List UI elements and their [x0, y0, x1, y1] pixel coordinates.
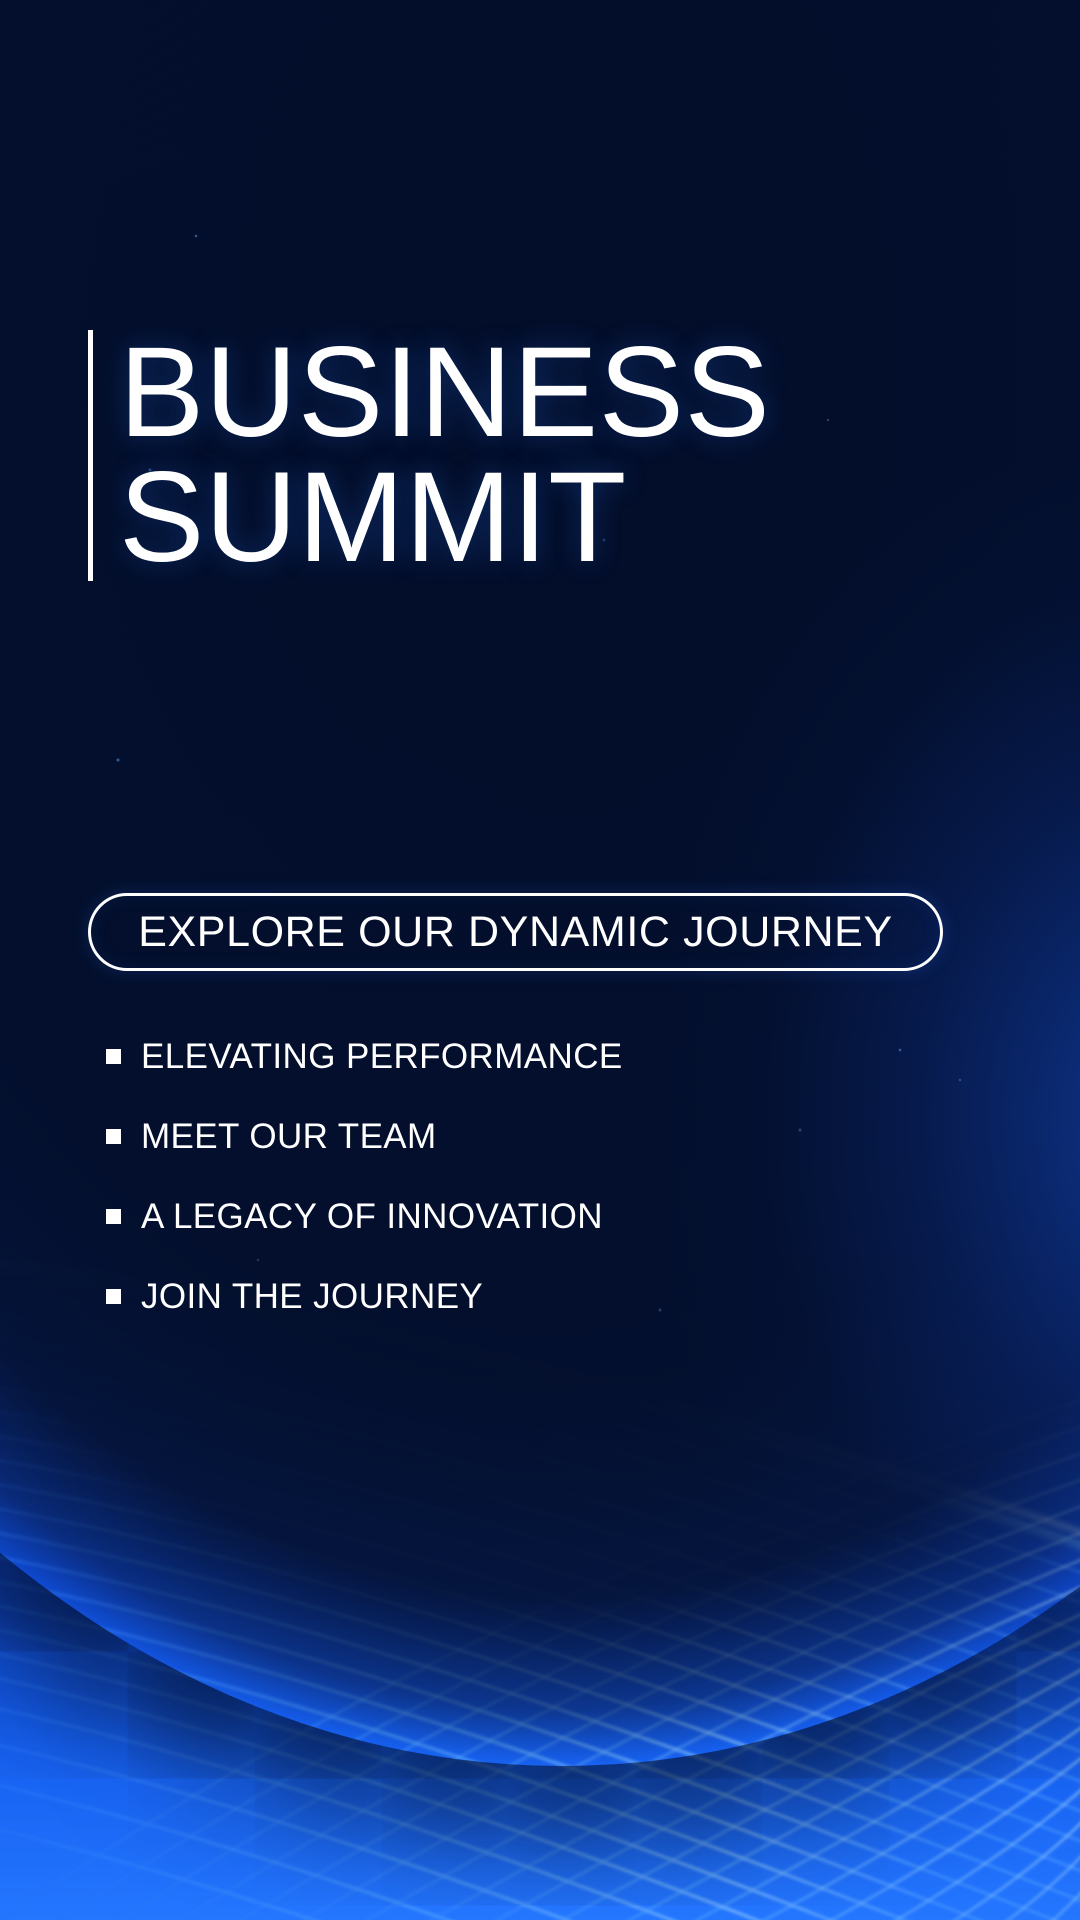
title-text-group: BUSINESS SUMMIT [119, 330, 770, 581]
list-item-label: ELEVATING PERFORMANCE [141, 1039, 623, 1074]
list-item[interactable]: A LEGACY OF INNOVATION [106, 1176, 926, 1256]
title-accent-bar [88, 330, 93, 581]
list-item[interactable]: MEET OUR TEAM [106, 1096, 926, 1176]
page-title: BUSINESS SUMMIT [88, 330, 770, 581]
list-item-label: MEET OUR TEAM [141, 1119, 437, 1154]
list-item[interactable]: JOIN THE JOURNEY [106, 1256, 926, 1336]
list-item-label: JOIN THE JOURNEY [141, 1279, 483, 1314]
square-bullet-icon [106, 1289, 121, 1304]
square-bullet-icon [106, 1209, 121, 1224]
square-bullet-icon [106, 1129, 121, 1144]
poster-canvas: BUSINESS SUMMIT EXPLORE OUR DYNAMIC JOUR… [0, 0, 1080, 1920]
feature-list: ELEVATING PERFORMANCE MEET OUR TEAM A LE… [106, 1016, 926, 1336]
title-line-1: BUSINESS [119, 330, 770, 455]
explore-journey-button[interactable]: EXPLORE OUR DYNAMIC JOURNEY [88, 893, 943, 971]
list-item[interactable]: ELEVATING PERFORMANCE [106, 1016, 926, 1096]
square-bullet-icon [106, 1049, 121, 1064]
poster-content: BUSINESS SUMMIT EXPLORE OUR DYNAMIC JOUR… [0, 0, 1080, 1920]
list-item-label: A LEGACY OF INNOVATION [141, 1199, 603, 1234]
explore-journey-button-label: EXPLORE OUR DYNAMIC JOURNEY [138, 911, 893, 954]
title-line-2: SUMMIT [119, 455, 770, 580]
